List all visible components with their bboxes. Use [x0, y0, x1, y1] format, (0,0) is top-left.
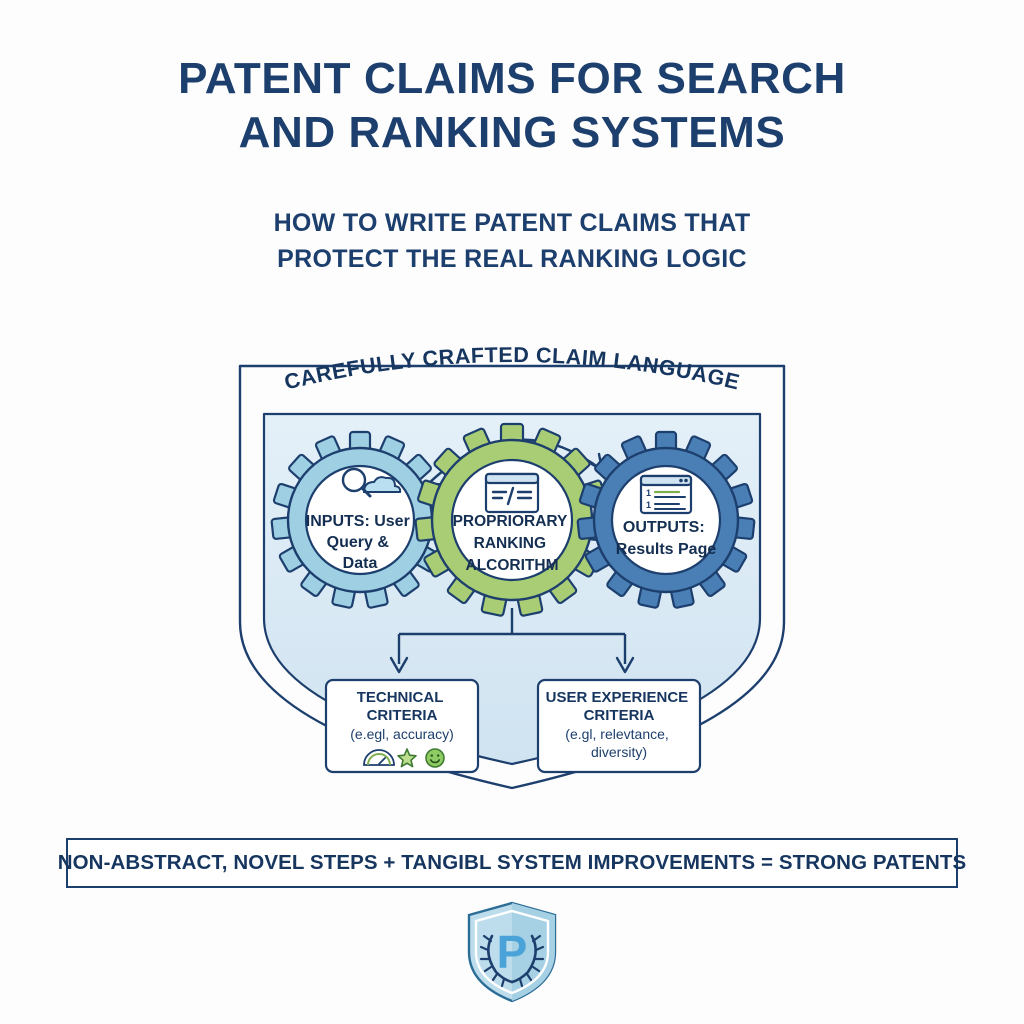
gear-inputs-label-2: Data: [343, 555, 378, 572]
gear-inputs-label-0: INPUTS: User: [306, 513, 410, 530]
code-window-icon: [486, 474, 538, 512]
results-page-icon: 1 1: [641, 476, 691, 513]
infographic-poster: PATENT CLAIMS FOR SEARCH AND RANKING SYS…: [0, 0, 1024, 1024]
svg-text:1: 1: [646, 488, 651, 498]
page-title: PATENT CLAIMS FOR SEARCH AND RANKING SYS…: [0, 52, 1024, 159]
gear-outputs-label-0: OUTPUTS:: [623, 519, 705, 536]
criteria-ux-sub-0: (e.gl, relevtance,: [565, 726, 669, 742]
title-line-1: PATENT CLAIMS FOR SEARCH: [0, 52, 1024, 106]
criteria-ux-title-1: CRITERIA: [584, 707, 655, 724]
logo-letter: P: [497, 926, 528, 978]
shield-diagram: CAREFULLY CRAFTED CLAIM LANGUAGE: [222, 322, 802, 802]
gear-outputs-label-1: Results Page: [616, 541, 717, 558]
gear-algorithm-label-0: PROPRIORARY: [453, 513, 568, 530]
criteria-box-technical[interactable]: TECHNICAL CRITERIA (e.egl, accuracy): [326, 680, 478, 772]
footer-banner-text: NON-ABSTRACT, NOVEL STEPS + TANGIBL SYST…: [58, 851, 967, 875]
patent-shield-logo: P: [462, 900, 562, 1004]
criteria-ux-title-0: USER EXPERIENCE: [546, 689, 689, 706]
gear-algorithm-label-2: ALCORITHM: [466, 557, 559, 574]
shield-arc-label-text: CAREFULLY CRAFTED CLAIM LANGUAGE: [282, 343, 742, 395]
gear-algorithm-label-1: RANKING: [474, 535, 546, 552]
shield-arc-label: CAREFULLY CRAFTED CLAIM LANGUAGE: [282, 343, 742, 395]
criteria-ux-sub-1: diversity): [591, 744, 647, 760]
subtitle-line-1: HOW TO WRITE PATENT CLAIMS THAT: [0, 206, 1024, 242]
footer-banner: NON-ABSTRACT, NOVEL STEPS + TANGIBL SYST…: [66, 838, 958, 888]
svg-text:1: 1: [646, 500, 651, 510]
title-line-2: AND RANKING SYSTEMS: [0, 106, 1024, 160]
criteria-technical-title-1: CRITERIA: [367, 707, 438, 724]
criteria-box-technical-subtitle: (e.egl, accuracy): [350, 726, 453, 742]
gear-inputs-label-1: Query &: [327, 534, 390, 551]
criteria-technical-title-0: TECHNICAL: [357, 689, 443, 706]
criteria-box-technical-title: TECHNICAL CRITERIA: [357, 689, 448, 724]
page-subtitle: HOW TO WRITE PATENT CLAIMS THAT PROTECT …: [0, 206, 1024, 277]
subtitle-line-2: PROTECT THE REAL RANKING LOGIC: [0, 242, 1024, 278]
smiley-icon: [426, 749, 444, 767]
criteria-box-user-experience[interactable]: USER EXPERIENCE CRITERIA (e.gl, relevtan…: [538, 680, 700, 772]
criteria-technical-sub-0: (e.egl, accuracy): [350, 726, 453, 742]
